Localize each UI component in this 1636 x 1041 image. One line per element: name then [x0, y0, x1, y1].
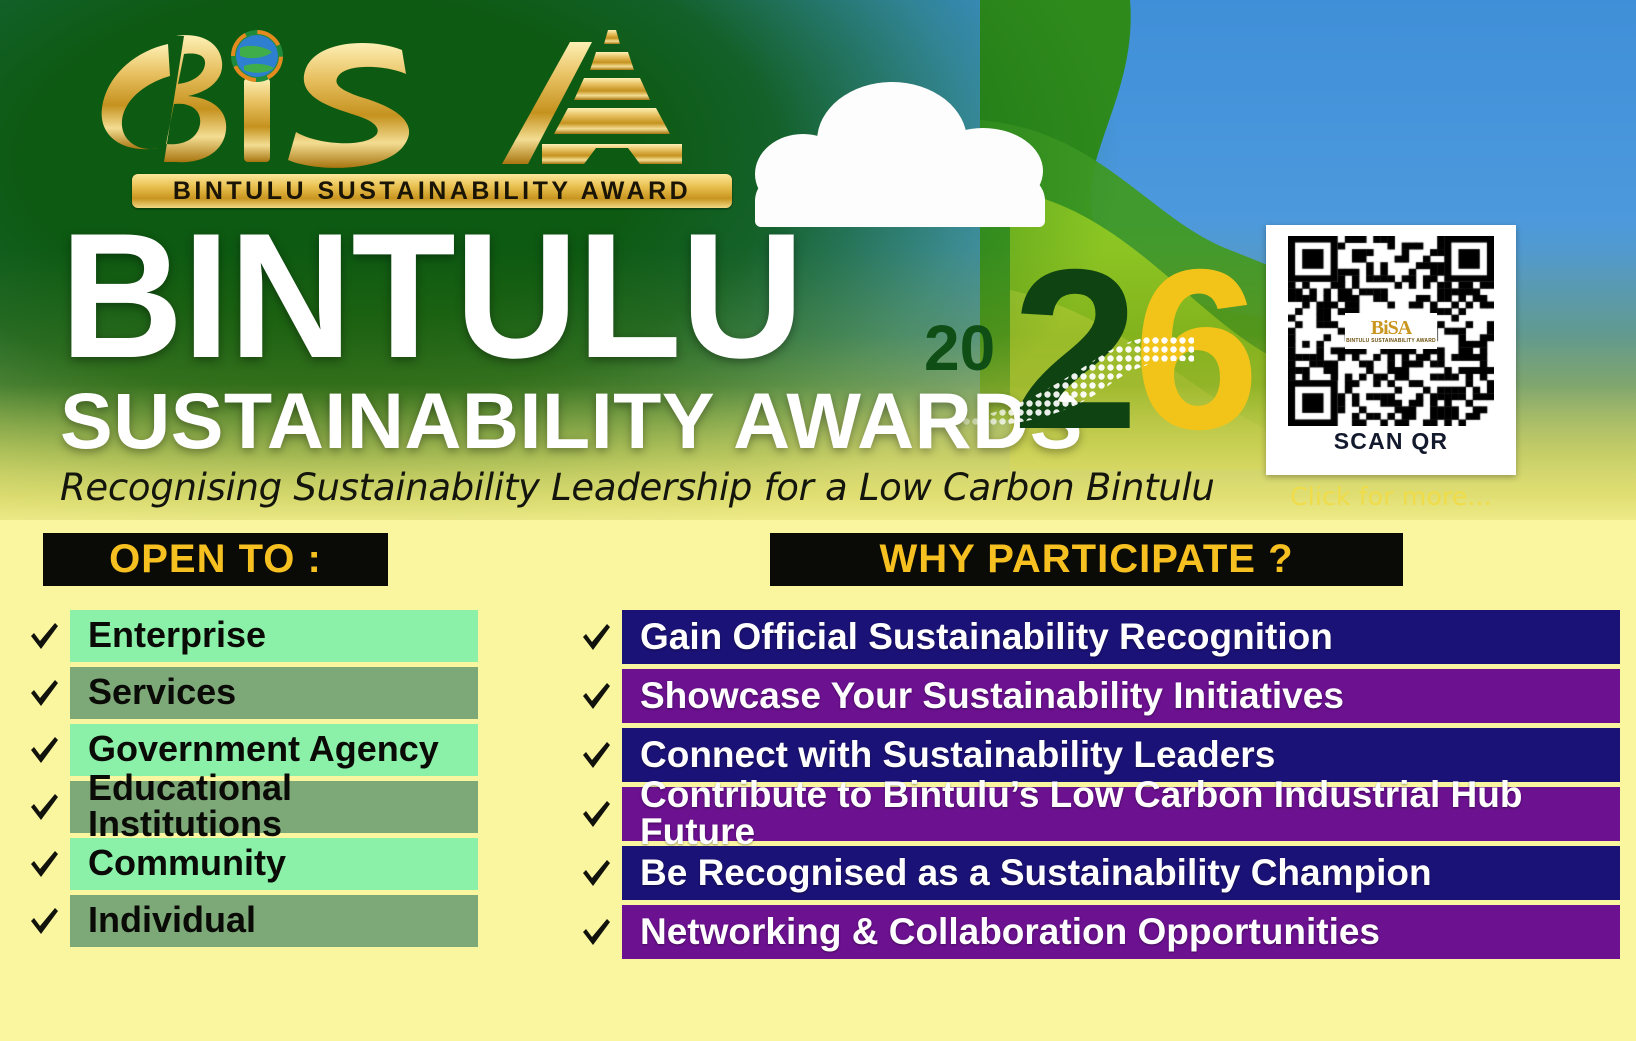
year-prefix: 20 [924, 316, 995, 380]
list-item-label: Showcase Your Sustainability Initiatives [622, 669, 1620, 723]
qr-embedded-subtext: BINTULU SUSTAINABILITY AWARD [1346, 338, 1436, 344]
check-icon [570, 728, 622, 782]
check-icon [18, 838, 70, 890]
list-item[interactable]: Services [18, 667, 478, 719]
check-icon [570, 610, 622, 664]
bisa-logo[interactable]: BINTULU SUSTAINABILITY AWARD [72, 22, 682, 212]
section-header-open-to: OPEN TO : [43, 533, 388, 586]
why-participate-list: Gain Official Sustainability Recognition… [570, 610, 1620, 964]
check-icon [18, 895, 70, 947]
list-item-label: Enterprise [70, 610, 478, 662]
list-item[interactable]: Community [18, 838, 478, 890]
year-digit-2: 2 [1012, 223, 1133, 477]
year-badge: 20 26 [916, 240, 1226, 490]
open-to-list: Enterprise Services Government Agency Ed… [18, 610, 478, 952]
list-item-label: Networking & Collaboration Opportunities [622, 905, 1620, 959]
list-item-label: Individual [70, 895, 478, 947]
check-icon [570, 669, 622, 723]
qr-code-card[interactable]: BiSA BINTULU SUSTAINABILITY AWARD SCAN Q… [1266, 225, 1516, 475]
list-item-label: Gain Official Sustainability Recognition [622, 610, 1620, 664]
check-icon [18, 724, 70, 776]
qr-embedded-wordmark: BiSA [1371, 318, 1411, 338]
list-item-label: Community [70, 838, 478, 890]
list-item[interactable]: Gain Official Sustainability Recognition [570, 610, 1620, 664]
list-item[interactable]: Networking & Collaboration Opportunities [570, 905, 1620, 959]
check-icon [18, 781, 70, 833]
section-header-why-participate: WHY PARTICIPATE ? [770, 533, 1403, 586]
section-header-why-participate-label: WHY PARTICIPATE ? [879, 537, 1293, 582]
qr-embedded-logo: BiSA BINTULU SUSTAINABILITY AWARD [1345, 313, 1437, 349]
check-icon [570, 846, 622, 900]
section-header-open-to-label: OPEN TO : [109, 537, 322, 582]
list-item-label: Be Recognised as a Sustainability Champi… [622, 846, 1620, 900]
list-item-label: Contribute to Bintulu’s Low Carbon Indus… [622, 787, 1620, 841]
check-icon [18, 667, 70, 719]
list-item[interactable]: Contribute to Bintulu’s Low Carbon Indus… [570, 787, 1620, 841]
list-item[interactable]: Showcase Your Sustainability Initiatives [570, 669, 1620, 723]
qr-caption: SCAN QR [1334, 428, 1448, 455]
list-item-label: Services [70, 667, 478, 719]
qr-code-image[interactable]: BiSA BINTULU SUSTAINABILITY AWARD [1288, 236, 1494, 426]
check-icon [570, 787, 622, 841]
list-item-label: Educational Institutions [70, 781, 478, 833]
poster-root: BINTULU SUSTAINABILITY AWARD BINTULU SUS… [0, 0, 1636, 1041]
list-item[interactable]: Individual [18, 895, 478, 947]
bisa-wordmark [72, 22, 682, 172]
check-icon [18, 610, 70, 662]
list-item[interactable]: Be Recognised as a Sustainability Champi… [570, 846, 1620, 900]
year-digits: 26 [1012, 236, 1254, 464]
list-item[interactable]: Enterprise [18, 610, 478, 662]
qr-click-for-more[interactable]: Click for more... [1266, 482, 1516, 511]
check-icon [570, 905, 622, 959]
year-digit-6: 6 [1133, 223, 1254, 477]
list-item[interactable]: Educational Institutions [18, 781, 478, 833]
